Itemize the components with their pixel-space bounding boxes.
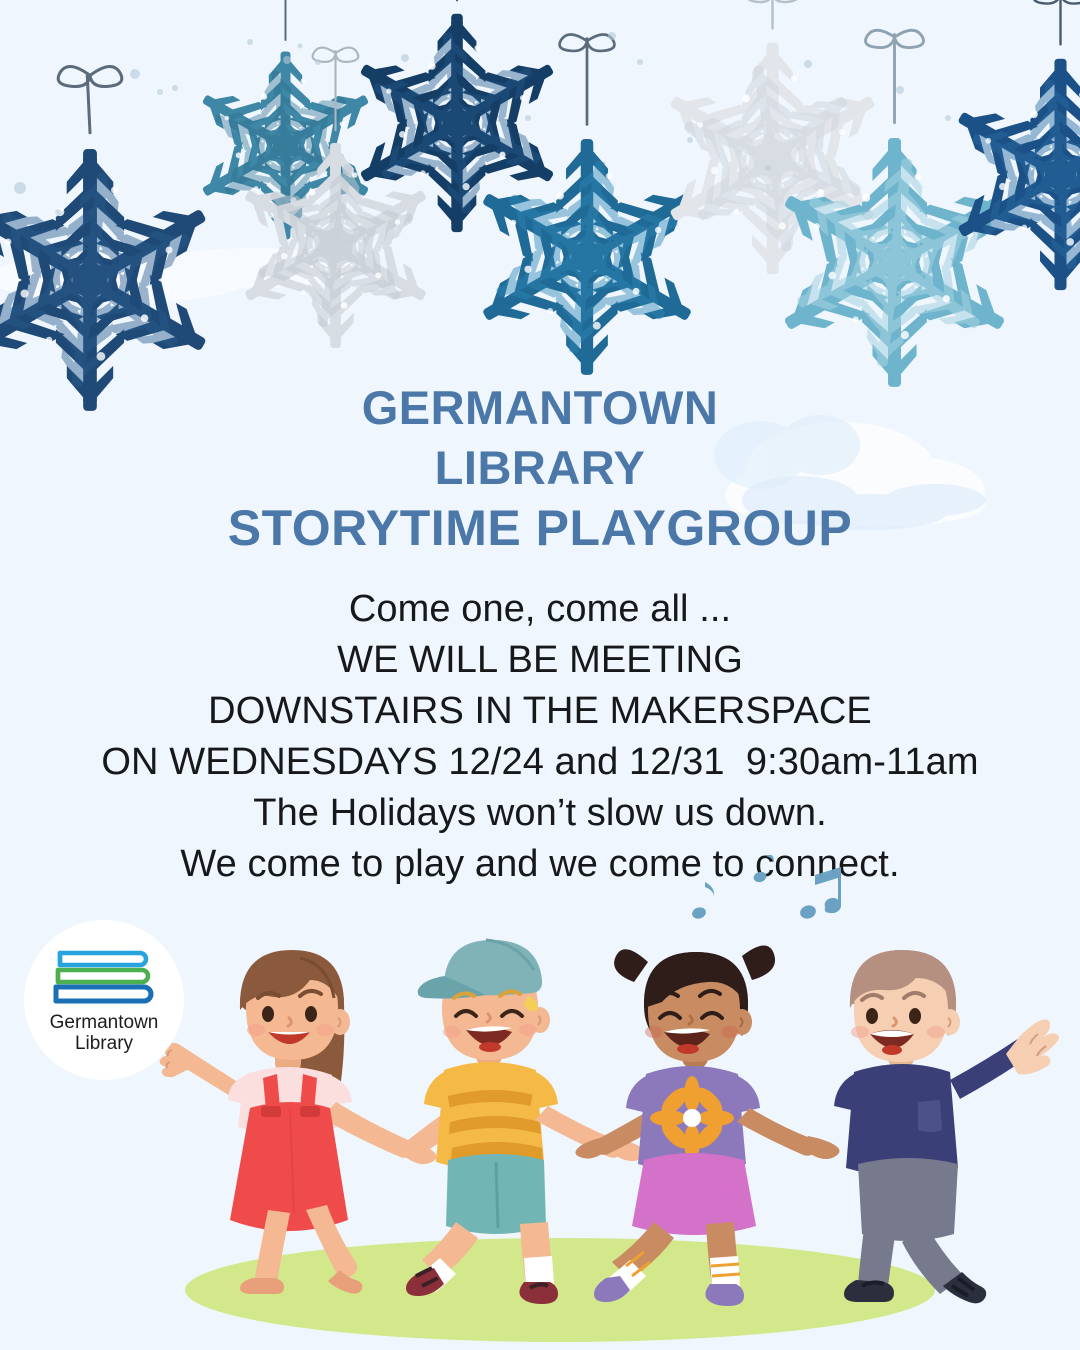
germantown-library-logo: Germantown Library bbox=[24, 920, 184, 1080]
headline-line-2: LIBRARY bbox=[0, 438, 1080, 498]
grass-ellipse bbox=[185, 1238, 935, 1342]
eighth-note-icon-2 bbox=[752, 855, 774, 884]
poster-canvas: GERMANTOWN LIBRARY STORYTIME PLAYGROUP C… bbox=[0, 0, 1080, 1350]
stacked-books-icon bbox=[52, 947, 156, 1009]
headline-line-1: GERMANTOWN bbox=[0, 378, 1080, 438]
body-line-2: WE WILL BE MEETING bbox=[0, 635, 1080, 686]
snowflake-band bbox=[0, 0, 1080, 400]
headline-line-3: STORYTIME PLAYGROUP bbox=[0, 498, 1080, 558]
poster-headline: GERMANTOWN LIBRARY STORYTIME PLAYGROUP bbox=[0, 378, 1080, 558]
body-line-4: ON WEDNESDAYS 12/24 and 12/31 9:30am-11a… bbox=[0, 737, 1080, 788]
body-line-5: The Holidays won’t slow us down. bbox=[0, 788, 1080, 839]
body-line-3: DOWNSTAIRS IN THE MAKERSPACE bbox=[0, 686, 1080, 737]
logo-wordmark: Germantown Library bbox=[50, 1012, 159, 1054]
body-line-1: Come one, come all ... bbox=[0, 584, 1080, 635]
poster-body-copy: Come one, come all ... WE WILL BE MEETIN… bbox=[0, 584, 1080, 890]
body-line-6: We come to play and we come to connect. bbox=[0, 839, 1080, 890]
child-boy-navy-sweater bbox=[834, 950, 1059, 1303]
child-girl-red-overalls bbox=[160, 950, 437, 1294]
logo-name-line-2: Library bbox=[50, 1033, 159, 1054]
logo-name-line-1: Germantown bbox=[50, 1012, 159, 1033]
snow-specks bbox=[0, 0, 1080, 400]
